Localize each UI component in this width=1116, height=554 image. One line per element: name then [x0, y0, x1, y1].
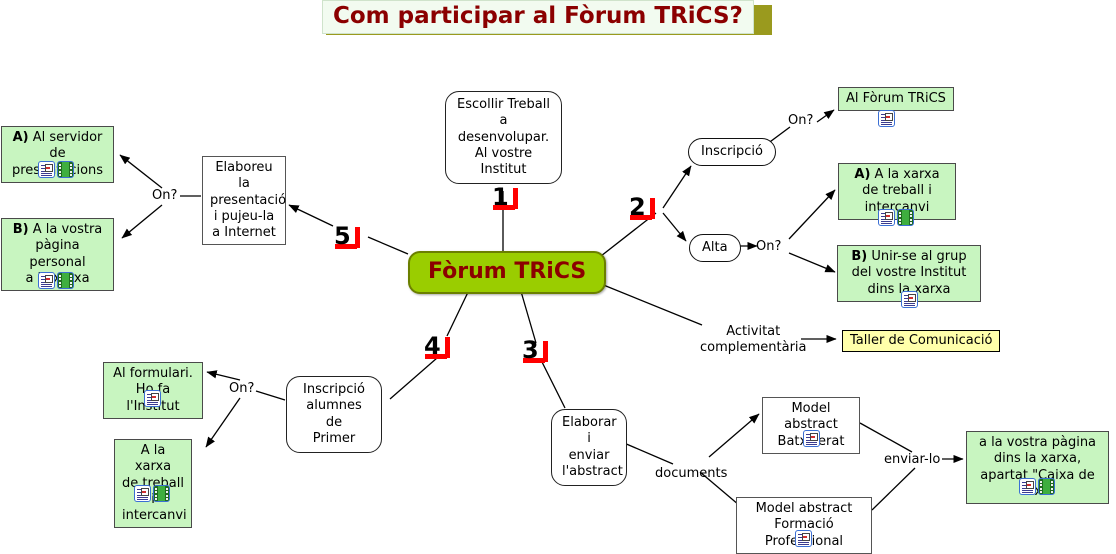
document-icon[interactable]: [144, 390, 161, 407]
node-al-forum-trics[interactable]: Al Fòrum TRiCS: [838, 87, 954, 111]
doc-thumbnail: [908, 294, 916, 302]
film-hole: [70, 275, 72, 277]
icon-group-pagina-personal: [38, 272, 74, 289]
film-hole: [1051, 488, 1053, 490]
document-icon[interactable]: [38, 272, 55, 289]
option-prefix: B): [13, 222, 29, 237]
film-hole: [59, 278, 61, 280]
node-text: Unir-se al grup: [871, 249, 966, 264]
icon-group-al-formulari: [144, 390, 161, 407]
doc-line: [904, 303, 915, 304]
film-hole: [1051, 491, 1053, 493]
node-line-1: A la xarxa: [122, 443, 184, 476]
film-hole: [1040, 484, 1042, 486]
node-line-4: a Internet: [210, 225, 278, 241]
node-line-1: Al formulari.: [111, 366, 195, 382]
node-line-2: del vostre Institut: [845, 265, 973, 281]
node-line-2: de treball i: [846, 183, 948, 199]
doc-thumbnail: [885, 212, 893, 220]
film-hole: [910, 215, 912, 217]
node-escollir-treball[interactable]: Escollir Treball a desenvolupar. Al vost…: [445, 91, 562, 184]
node-line-1: a la vostra pàgina: [974, 435, 1101, 451]
film-hole: [910, 219, 912, 221]
film-hole: [1051, 481, 1053, 483]
film-hole: [70, 278, 72, 280]
edge-label-activitat-complementaria: Activitat complementària: [700, 324, 807, 357]
icon-group-al-forum-trics: [878, 110, 895, 127]
edge-label-enviar-lo: enviar-lo: [884, 452, 940, 468]
film-hole: [70, 285, 72, 287]
film-hole: [70, 174, 72, 176]
node-inscripcio-label: Inscripció: [701, 144, 763, 160]
document-icon[interactable]: [901, 291, 918, 308]
edge-label-on-branch4: On?: [229, 381, 254, 397]
film-hole: [70, 167, 72, 169]
film-hole: [1040, 488, 1042, 490]
film-icon[interactable]: [1038, 478, 1055, 495]
node-line-3: l'abstract: [562, 464, 616, 480]
doc-line: [147, 402, 158, 403]
doc-line: [806, 444, 817, 445]
film-strip: [158, 486, 165, 501]
title-text: Com participar al Fòrum TRiCS?: [333, 3, 743, 29]
node-label: Taller de Comunicació: [850, 333, 992, 349]
node-line-2: dins la xarxa,: [974, 451, 1101, 467]
node-label: Al Fòrum TRiCS: [846, 91, 946, 107]
node-inscripcio[interactable]: Inscripció: [688, 138, 776, 166]
document-icon[interactable]: [803, 430, 820, 447]
film-strip: [1043, 479, 1050, 494]
doc-line: [41, 286, 52, 287]
step-marker-1: 1: [492, 186, 522, 216]
step-number: 1: [492, 185, 509, 209]
icon-group-alta-option-a: [878, 209, 914, 226]
edge-label-documents: documents: [655, 466, 727, 482]
film-hole: [59, 285, 61, 287]
doc-thumbnail: [802, 533, 810, 541]
document-icon[interactable]: [134, 485, 151, 502]
option-prefix: B): [851, 249, 867, 264]
option-prefix: A): [854, 167, 870, 182]
doc-line: [137, 497, 148, 498]
edge-label-on-inscripcio: On?: [788, 113, 813, 129]
node-elaborar-enviar-abstract[interactable]: Elaborar i enviar l'abstract: [551, 409, 627, 486]
film-hole: [59, 167, 61, 169]
doc-line: [41, 173, 52, 174]
center-node-label: Fòrum TRiCS: [428, 259, 586, 284]
node-line-3: intercanvi: [122, 508, 184, 524]
mindmap-canvas: Com participar al Fòrum TRiCS? Fòrum TRi…: [0, 0, 1116, 551]
node-line-1: Escollir Treball: [456, 97, 551, 113]
film-hole: [59, 282, 61, 284]
film-hole: [155, 498, 157, 500]
node-alta-label: Alta: [702, 240, 728, 256]
film-hole: [59, 174, 61, 176]
center-node-forum-trics[interactable]: Fòrum TRiCS: [408, 251, 606, 294]
step-number: 2: [629, 195, 646, 219]
film-strip: [902, 210, 909, 225]
doc-line: [798, 544, 809, 545]
title-box: Com participar al Fòrum TRiCS?: [322, 0, 754, 34]
doc-thumbnail: [885, 113, 893, 121]
doc-thumbnail: [45, 164, 53, 172]
film-icon[interactable]: [57, 161, 74, 178]
doc-line: [881, 122, 892, 123]
step-marker-5: 5: [334, 225, 364, 255]
edge-label-line-1: Activitat: [726, 324, 780, 339]
film-hole: [166, 491, 168, 493]
node-line-1: Elaborar i: [562, 415, 616, 448]
option-prefix: A): [13, 130, 29, 145]
node-line-1: Elaboreu la: [210, 160, 278, 193]
film-hole: [70, 171, 72, 173]
document-icon[interactable]: [878, 209, 895, 226]
node-line-3: i pujeu-la: [210, 209, 278, 225]
node-line-2: enviar: [562, 448, 616, 464]
film-icon[interactable]: [897, 209, 914, 226]
document-icon[interactable]: [1019, 478, 1036, 495]
edge-label-on-branch5: On?: [152, 188, 177, 204]
film-hole: [155, 491, 157, 493]
step-number: 4: [424, 334, 441, 358]
node-line-1: B) Unir-se al grup: [845, 249, 973, 265]
node-line-1: Model abstract: [744, 501, 864, 517]
film-strip: [62, 162, 69, 177]
film-hole: [70, 164, 72, 166]
icon-group-model-fp: [795, 530, 812, 547]
node-line-1: B) A la vostra: [9, 222, 106, 238]
film-hole: [70, 282, 72, 284]
doc-line: [881, 221, 892, 222]
node-line-2: a desenvolupar.: [456, 113, 551, 146]
doc-thumbnail: [810, 433, 818, 441]
film-hole: [899, 222, 901, 224]
document-icon[interactable]: [795, 530, 812, 547]
doc-line: [904, 305, 915, 306]
icon-group-servidor-presentacions: [38, 161, 74, 178]
step-marker-4: 4: [424, 335, 454, 365]
doc-thumbnail: [151, 393, 159, 401]
node-line-3: Al vostre Institut: [456, 146, 551, 179]
document-icon[interactable]: [38, 161, 55, 178]
icon-group-branch4-xarxa: [134, 485, 170, 502]
doc-thumbnail: [45, 275, 53, 283]
film-hole: [166, 495, 168, 497]
film-hole: [910, 212, 912, 214]
film-hole: [899, 219, 901, 221]
node-line-2: presentació: [210, 193, 278, 209]
doc-line: [1022, 492, 1033, 493]
node-line-1: A) Al servidor de: [9, 130, 106, 163]
edge-label-on-alta: On?: [756, 239, 781, 255]
doc-line: [41, 175, 52, 176]
node-branch4-xarxa-treball[interactable]: A la xarxa de treball i intercanvi: [114, 439, 192, 528]
page-title: Com participar al Fòrum TRiCS?: [322, 0, 754, 34]
node-line-1: Model abstract: [770, 401, 852, 434]
film-strip: [62, 273, 69, 288]
node-line-2: pàgina personal: [9, 238, 106, 271]
doc-line: [147, 404, 158, 405]
film-icon[interactable]: [153, 485, 170, 502]
node-line-2: alumnes de: [297, 398, 371, 431]
film-hole: [166, 498, 168, 500]
node-line-1: A) A la xarxa: [846, 167, 948, 183]
node-text: A la xarxa: [875, 167, 940, 182]
step-marker-2: 2: [629, 196, 659, 226]
film-hole: [899, 212, 901, 214]
film-hole: [899, 215, 901, 217]
edge-label-line-2: complementària: [700, 340, 807, 355]
node-alta[interactable]: Alta: [689, 234, 741, 262]
film-hole: [1040, 491, 1042, 493]
doc-thumbnail: [1026, 481, 1034, 489]
doc-line: [137, 499, 148, 500]
film-hole: [59, 275, 61, 277]
doc-line: [1022, 490, 1033, 491]
doc-line: [806, 442, 817, 443]
node-taller-de-comunicacio[interactable]: Taller de Comunicació: [842, 330, 1000, 352]
icon-group-caixa-de-text: [1019, 478, 1055, 495]
doc-line: [881, 223, 892, 224]
node-line-3: Primer: [297, 431, 371, 447]
film-icon[interactable]: [57, 272, 74, 289]
node-line-1: Inscripció: [297, 382, 371, 398]
film-hole: [59, 171, 61, 173]
node-inscripcio-alumnes-primer[interactable]: Inscripció alumnes de Primer: [286, 376, 382, 453]
node-elaboreu-presentacio[interactable]: Elaboreu la presentació i pujeu-la a Int…: [202, 156, 286, 245]
film-hole: [155, 495, 157, 497]
icon-group-model-batxillerat: [803, 430, 820, 447]
icon-group-alta-option-b: [901, 291, 918, 308]
step-number: 5: [334, 224, 351, 248]
film-hole: [910, 222, 912, 224]
step-number: 3: [522, 338, 539, 362]
doc-line: [41, 284, 52, 285]
doc-thumbnail: [141, 488, 149, 496]
film-hole: [166, 488, 168, 490]
film-hole: [1040, 481, 1042, 483]
doc-line: [881, 124, 892, 125]
film-hole: [1051, 484, 1053, 486]
doc-line: [798, 542, 809, 543]
document-icon[interactable]: [878, 110, 895, 127]
node-text: A la vostra: [33, 222, 103, 237]
film-hole: [59, 164, 61, 166]
node-text: Al servidor de: [33, 130, 103, 161]
film-hole: [155, 488, 157, 490]
step-marker-3: 3: [522, 339, 552, 369]
